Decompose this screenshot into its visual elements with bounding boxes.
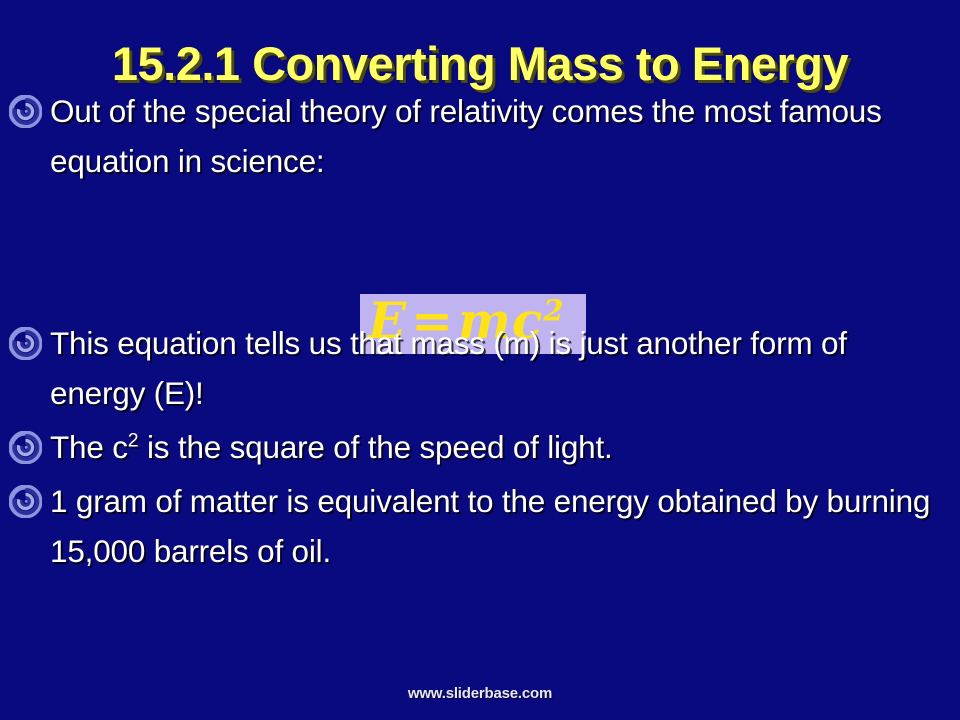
- footer-watermark: www.sliderbase.com: [0, 685, 960, 702]
- spiral-swirl-bullet-icon: [9, 95, 42, 128]
- list-item: 1 gram of matter is equivalent to the en…: [0, 476, 960, 576]
- bullet-list: Out of the special theory of relativity …: [0, 86, 960, 586]
- page-title: 15.2.1 Converting Mass to Energy: [0, 37, 960, 91]
- list-item: Out of the special theory of relativity …: [0, 86, 960, 186]
- spiral-swirl-bullet-icon: [9, 431, 42, 464]
- list-item-label: 1 gram of matter is equivalent to the en…: [50, 476, 960, 576]
- list-item: This equation tells us that mass (m) is …: [0, 318, 960, 418]
- slide-canvas: 15.2.1 Converting Mass to Energy Out of …: [0, 0, 960, 720]
- list-item-text-before: The c: [50, 429, 128, 465]
- list-item-label: The c2 is the square of the speed of lig…: [50, 422, 960, 472]
- list-item-superscript: 2: [128, 430, 139, 452]
- list-item-label: Out of the special theory of relativity …: [50, 86, 960, 186]
- spiral-swirl-bullet-icon: [9, 327, 42, 360]
- list-item: The c2 is the square of the speed of lig…: [0, 422, 960, 472]
- list-item-label: This equation tells us that mass (m) is …: [50, 318, 960, 418]
- spiral-swirl-bullet-icon: [9, 485, 42, 518]
- list-item-text-after: is the square of the speed of light.: [138, 429, 612, 465]
